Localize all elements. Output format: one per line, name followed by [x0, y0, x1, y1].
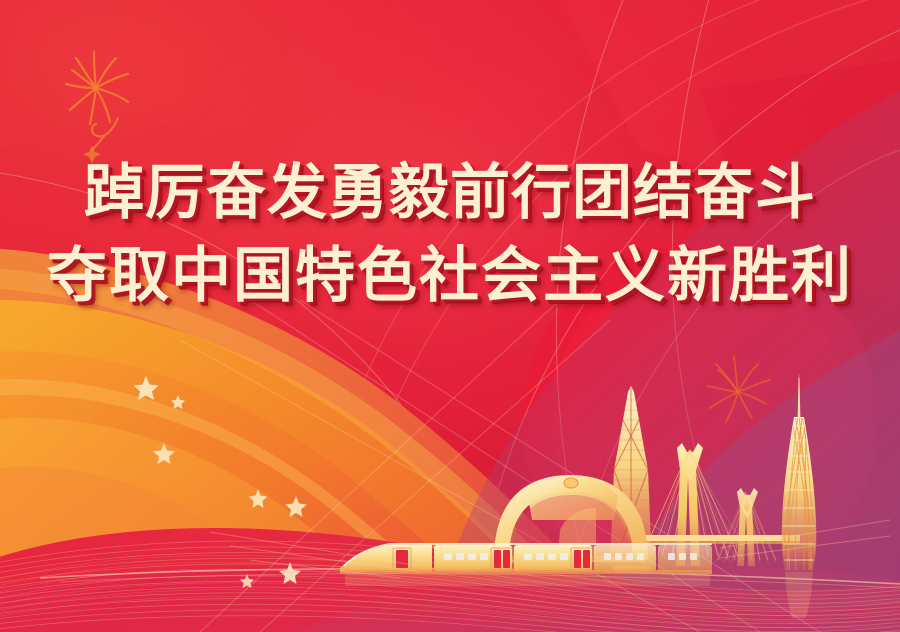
firework-trail-icon: [92, 118, 118, 150]
star-icon: [153, 443, 175, 464]
star-icon: [249, 489, 268, 508]
star-icon: [279, 562, 301, 584]
firework-spark-icon: [83, 146, 101, 163]
star-icon: [285, 496, 307, 517]
star-field: [134, 376, 308, 588]
star-icon: [134, 376, 159, 400]
firework-icon: [66, 52, 128, 124]
star-icon: [171, 395, 185, 409]
poster-canvas: 踔厉奋发勇毅前行团结奋斗 夺取中国特色社会主义新胜利: [0, 0, 900, 632]
star-icon: [240, 574, 254, 588]
decor-layer: [0, 0, 900, 632]
firework-right-icon: [708, 356, 770, 422]
